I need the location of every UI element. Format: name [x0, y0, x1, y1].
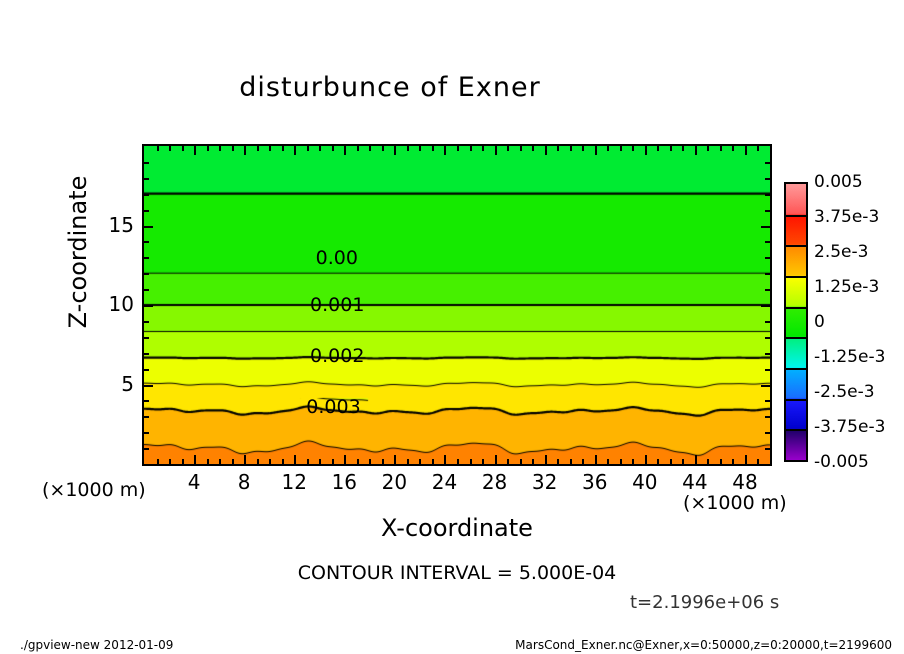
- axis-tick: [757, 146, 759, 151]
- axis-tick: [757, 459, 759, 464]
- axis-tick: [682, 146, 684, 151]
- axis-tick: [695, 146, 697, 155]
- axis-tick: [765, 416, 770, 418]
- contour-label: 0.003: [306, 396, 360, 418]
- axis-tick: [144, 289, 149, 291]
- axis-tick: [765, 178, 770, 180]
- axis-tick: [645, 455, 647, 464]
- axis-tick: [144, 432, 149, 434]
- colorbar-tick-label: -1.25e-3: [814, 347, 885, 367]
- axis-tick: [470, 459, 472, 464]
- axis-tick: [144, 337, 149, 339]
- axis-tick: [332, 146, 334, 151]
- axis-tick: [457, 146, 459, 151]
- axis-tick: [144, 448, 149, 450]
- y-axis-title: Z-coordinate: [64, 152, 92, 352]
- axis-tick: [144, 241, 149, 243]
- axis-tick: [157, 146, 159, 151]
- colorbar[interactable]: [784, 182, 808, 462]
- axis-tick: [157, 459, 159, 464]
- axis-tick: [444, 455, 446, 464]
- colorbar-tick-label: 1.25e-3: [814, 277, 879, 297]
- axis-tick: [144, 369, 149, 371]
- colorbar-separator: [786, 399, 806, 401]
- axis-tick: [144, 273, 149, 275]
- axis-tick: [269, 146, 271, 151]
- axis-tick: [244, 146, 246, 155]
- axis-tick: [232, 146, 234, 151]
- axis-tick: [282, 459, 284, 464]
- axis-tick: [182, 146, 184, 151]
- axis-tick: [595, 455, 597, 464]
- contour-label: 0.002: [310, 345, 364, 367]
- axis-tick: [470, 146, 472, 151]
- axis-tick: [761, 305, 770, 307]
- axis-tick: [657, 146, 659, 151]
- axis-tick: [765, 448, 770, 450]
- axis-tick: [620, 459, 622, 464]
- axis-tick: [657, 459, 659, 464]
- axis-tick: [545, 146, 547, 155]
- axis-tick: [419, 146, 421, 151]
- x-unit-label-right: (×1000 m): [683, 492, 787, 514]
- axis-tick: [482, 459, 484, 464]
- contour-label: 0.00: [316, 247, 358, 269]
- colorbar-separator: [786, 276, 806, 278]
- axis-tick: [670, 459, 672, 464]
- axis-tick: [232, 459, 234, 464]
- axis-tick: [707, 146, 709, 151]
- axis-tick: [765, 273, 770, 275]
- colorbar-tick-label: -3.75e-3: [814, 417, 885, 437]
- y-tick-label: 5: [92, 372, 134, 396]
- axis-tick: [407, 146, 409, 151]
- axis-tick: [765, 241, 770, 243]
- axis-tick: [745, 146, 747, 155]
- axis-tick: [765, 162, 770, 164]
- axis-tick: [144, 353, 149, 355]
- contour-label: 0.001: [310, 294, 364, 316]
- axis-tick: [144, 257, 149, 259]
- colorbar-separator: [786, 307, 806, 309]
- axis-tick: [144, 226, 153, 228]
- time-annotation: t=2.1996e+06 s: [630, 592, 779, 613]
- axis-tick: [432, 459, 434, 464]
- axis-tick: [720, 146, 722, 151]
- footer-dataset: MarsCond_Exner.nc@Exner,x=0:50000,z=0:20…: [515, 638, 892, 652]
- contour-field: [144, 146, 770, 464]
- colorbar-tick-label: 0: [814, 312, 825, 332]
- axis-tick: [169, 146, 171, 151]
- axis-tick: [607, 146, 609, 151]
- axis-tick: [570, 146, 572, 151]
- x-axis-title: X-coordinate: [142, 514, 772, 542]
- colorbar-gradient: [786, 184, 806, 460]
- axis-tick: [695, 455, 697, 464]
- axis-tick: [765, 289, 770, 291]
- colorbar-tick-label: -0.005: [814, 452, 869, 472]
- axis-tick: [557, 459, 559, 464]
- axis-tick: [332, 459, 334, 464]
- colorbar-tick-label: -2.5e-3: [814, 382, 875, 402]
- axis-tick: [144, 305, 153, 307]
- axis-tick: [282, 146, 284, 151]
- axis-tick: [182, 459, 184, 464]
- axis-tick: [520, 146, 522, 151]
- axis-tick: [765, 432, 770, 434]
- axis-tick: [244, 455, 246, 464]
- axis-tick: [294, 455, 296, 464]
- x-tick-label: 48: [715, 470, 775, 494]
- axis-tick: [582, 459, 584, 464]
- axis-tick: [194, 146, 196, 155]
- axis-tick: [444, 146, 446, 155]
- axis-tick: [407, 459, 409, 464]
- axis-tick: [344, 146, 346, 155]
- axis-tick: [482, 146, 484, 151]
- axis-tick: [761, 385, 770, 387]
- axis-tick: [269, 459, 271, 464]
- axis-tick: [382, 146, 384, 151]
- axis-tick: [144, 162, 149, 164]
- axis-tick: [620, 146, 622, 151]
- axis-tick: [765, 194, 770, 196]
- y-tick-label: 15: [92, 213, 134, 237]
- axis-tick: [632, 146, 634, 151]
- axis-tick: [732, 146, 734, 151]
- axis-tick: [294, 146, 296, 155]
- colorbar-tick-label: 2.5e-3: [814, 242, 868, 262]
- contour-interval-text: CONTOUR INTERVAL = 5.000E-04: [142, 562, 772, 584]
- axis-tick: [219, 459, 221, 464]
- axis-tick: [495, 146, 497, 155]
- colorbar-separator: [786, 337, 806, 339]
- axis-tick: [257, 146, 259, 151]
- colorbar-tick-label: 3.75e-3: [814, 207, 879, 227]
- axis-tick: [307, 146, 309, 151]
- axis-tick: [144, 400, 149, 402]
- axis-tick: [732, 459, 734, 464]
- axis-tick: [745, 455, 747, 464]
- axis-tick: [219, 146, 221, 151]
- footer-command: ./gpview-new 2012-01-09: [20, 638, 173, 652]
- axis-tick: [394, 146, 396, 155]
- colorbar-separator: [786, 215, 806, 217]
- axis-tick: [607, 459, 609, 464]
- axis-tick: [532, 146, 534, 151]
- colorbar-tick-label: 0.005: [814, 172, 863, 192]
- axis-tick: [144, 210, 149, 212]
- axis-tick: [144, 416, 149, 418]
- axis-tick: [207, 459, 209, 464]
- axis-tick: [765, 353, 770, 355]
- colorbar-separator: [786, 429, 806, 431]
- plot-area[interactable]: 0.000.0010.0020.003: [142, 144, 772, 466]
- y-tick-label: 10: [92, 292, 134, 316]
- axis-tick: [319, 459, 321, 464]
- axis-tick: [707, 459, 709, 464]
- axis-tick: [495, 455, 497, 464]
- page-title: disturbunce of Exner: [0, 72, 780, 103]
- axis-tick: [144, 194, 149, 196]
- axis-tick: [144, 385, 153, 387]
- axis-tick: [765, 210, 770, 212]
- axis-tick: [570, 459, 572, 464]
- axis-tick: [369, 459, 371, 464]
- axis-tick: [457, 459, 459, 464]
- axis-tick: [765, 369, 770, 371]
- axis-tick: [357, 459, 359, 464]
- axis-tick: [307, 459, 309, 464]
- axis-tick: [645, 146, 647, 155]
- axis-tick: [257, 459, 259, 464]
- axis-tick: [532, 459, 534, 464]
- axis-tick: [507, 146, 509, 151]
- axis-tick: [144, 178, 149, 180]
- colorbar-separator: [786, 245, 806, 247]
- axis-tick: [670, 146, 672, 151]
- axis-tick: [194, 455, 196, 464]
- axis-tick: [595, 146, 597, 155]
- axis-tick: [720, 459, 722, 464]
- axis-tick: [682, 459, 684, 464]
- axis-tick: [144, 321, 149, 323]
- axis-tick: [507, 459, 509, 464]
- axis-tick: [169, 459, 171, 464]
- axis-tick: [357, 146, 359, 151]
- axis-tick: [207, 146, 209, 151]
- axis-tick: [545, 455, 547, 464]
- axis-tick: [765, 321, 770, 323]
- axis-tick: [632, 459, 634, 464]
- axis-tick: [369, 146, 371, 151]
- colorbar-separator: [786, 368, 806, 370]
- axis-tick: [761, 226, 770, 228]
- axis-tick: [432, 146, 434, 151]
- axis-tick: [765, 257, 770, 259]
- axis-tick: [520, 459, 522, 464]
- axis-tick: [344, 455, 346, 464]
- axis-tick: [419, 459, 421, 464]
- axis-tick: [382, 459, 384, 464]
- axis-tick: [582, 146, 584, 151]
- axis-tick: [765, 337, 770, 339]
- axis-tick: [557, 146, 559, 151]
- axis-tick: [394, 455, 396, 464]
- axis-tick: [319, 146, 321, 151]
- x-unit-label-left: (×1000 m): [42, 479, 146, 501]
- axis-tick: [765, 400, 770, 402]
